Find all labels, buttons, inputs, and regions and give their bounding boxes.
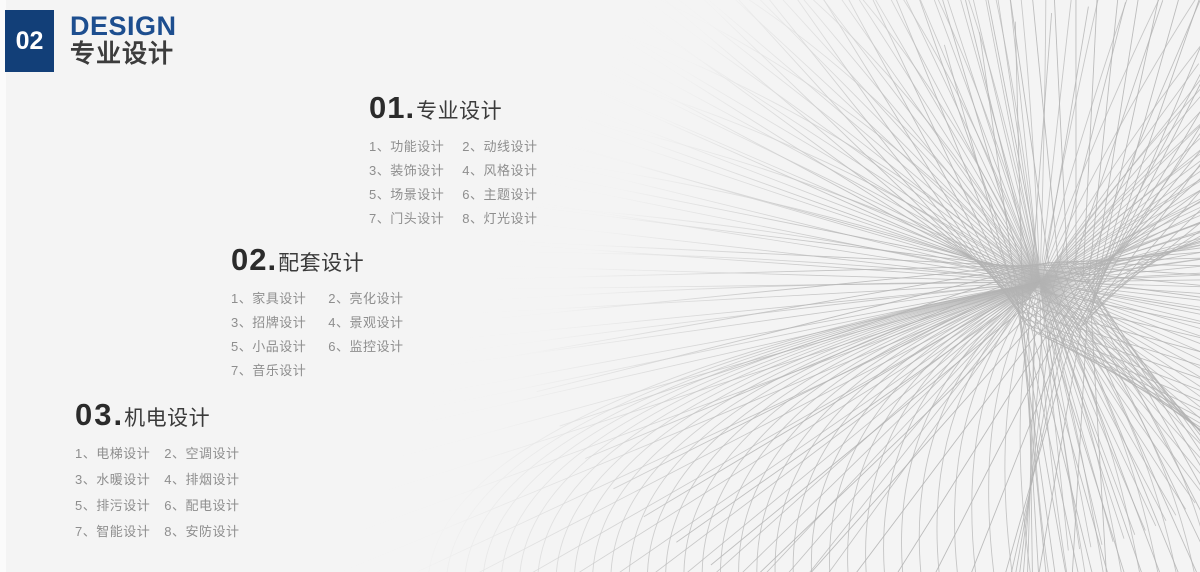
list-item: 4、风格设计: [462, 164, 537, 179]
section-03-number: 03: [75, 397, 113, 433]
list-item: 4、景观设计: [328, 316, 403, 331]
list-item: 3、招牌设计: [231, 316, 328, 331]
header-title-group: DESIGN 专业设计: [70, 12, 177, 67]
list-item: 5、小品设计: [231, 340, 328, 355]
section-03-item-list: 1、电梯设计 2、空调设计 3、水暖设计 4、排烟设计 5、排污设计 6、配电设…: [75, 447, 239, 540]
list-item: 6、监控设计: [328, 340, 403, 355]
list-item: 3、水暖设计: [75, 473, 164, 488]
section-03-dot: .: [113, 397, 122, 433]
header-badge-number: 02: [5, 10, 54, 72]
list-item-empty: [328, 364, 403, 379]
list-item: 8、灯光设计: [462, 212, 537, 227]
list-item: 8、安防设计: [164, 525, 239, 540]
header-title-chinese: 专业设计: [70, 41, 177, 67]
list-item: 4、排烟设计: [164, 473, 239, 488]
list-item: 1、家具设计: [231, 292, 328, 307]
list-item: 7、音乐设计: [231, 364, 328, 379]
list-item: 5、排污设计: [75, 499, 164, 514]
list-item: 3、装饰设计: [369, 164, 462, 179]
list-item: 5、场景设计: [369, 188, 462, 203]
section-02-heading: 02 . 配套设计: [231, 242, 403, 278]
section-01: 01 . 专业设计 1、功能设计 2、动线设计 3、装饰设计 4、风格设计 5、…: [369, 90, 537, 227]
section-02: 02 . 配套设计 1、家具设计 2、亮化设计 3、招牌设计 4、景观设计 5、…: [231, 242, 403, 379]
section-01-title: 专业设计: [416, 95, 502, 125]
slide-root: 02 DESIGN 专业设计 01 . 专业设计 1、功能设计 2、动线设计 3…: [0, 0, 1200, 572]
section-01-heading: 01 . 专业设计: [369, 90, 537, 126]
list-item: 6、配电设计: [164, 499, 239, 514]
list-item: 6、主题设计: [462, 188, 537, 203]
section-01-number: 01: [369, 90, 405, 126]
list-item: 1、功能设计: [369, 140, 462, 155]
left-edge-highlight: [0, 0, 6, 572]
section-01-dot: .: [405, 90, 414, 126]
section-02-title: 配套设计: [278, 247, 364, 277]
list-item: 2、亮化设计: [328, 292, 403, 307]
section-02-number: 02: [231, 242, 267, 278]
section-03: 03 . 机电设计 1、电梯设计 2、空调设计 3、水暖设计 4、排烟设计 5、…: [75, 397, 239, 540]
list-item: 7、智能设计: [75, 525, 164, 540]
section-03-title: 机电设计: [124, 402, 210, 432]
section-01-item-list: 1、功能设计 2、动线设计 3、装饰设计 4、风格设计 5、场景设计 6、主题设…: [369, 140, 537, 227]
list-item: 2、空调设计: [164, 447, 239, 462]
header-title-english: DESIGN: [70, 12, 177, 40]
list-item: 2、动线设计: [462, 140, 537, 155]
list-item: 1、电梯设计: [75, 447, 164, 462]
section-02-item-list: 1、家具设计 2、亮化设计 3、招牌设计 4、景观设计 5、小品设计 6、监控设…: [231, 292, 403, 379]
list-item: 7、门头设计: [369, 212, 462, 227]
slide-header: 02 DESIGN 专业设计: [5, 10, 177, 72]
section-02-dot: .: [267, 242, 276, 278]
section-03-heading: 03 . 机电设计: [75, 397, 239, 433]
